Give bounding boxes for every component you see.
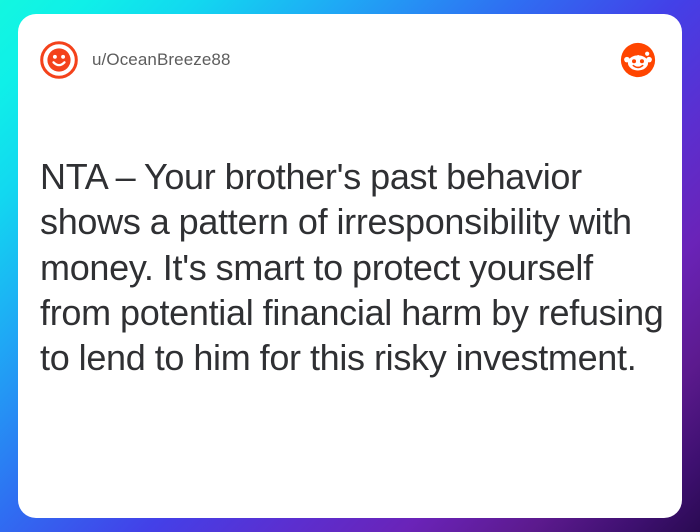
reddit-snoo-icon[interactable]: [620, 42, 656, 78]
comment-header: u/OceanBreeze88: [18, 14, 682, 106]
screenshot-stage: u/OceanBreeze88 NTA – Your: [0, 0, 700, 532]
reddit-comment-card: u/OceanBreeze88 NTA – Your: [18, 14, 682, 518]
username-label: u/OceanBreeze88: [92, 50, 231, 70]
comment-body-text: NTA – Your brother's past behavior shows…: [40, 154, 664, 381]
smiley-face-icon[interactable]: [40, 41, 78, 79]
